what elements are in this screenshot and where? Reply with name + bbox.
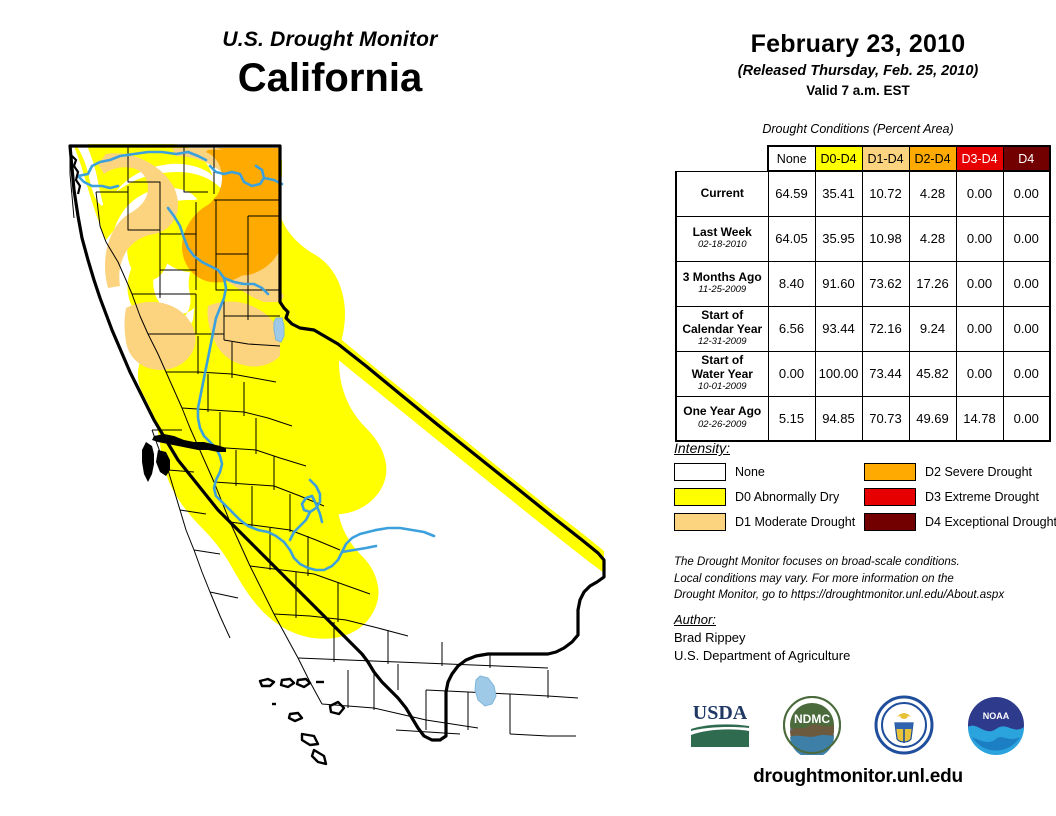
table-cell-value: 72.16 xyxy=(862,306,909,351)
note-line-3[interactable]: Drought Monitor, go to https://droughtmo… xyxy=(674,587,1054,604)
agency-logos: USDA NDMC xyxy=(660,692,1056,758)
table-caption: Drought Conditions (Percent Area) xyxy=(660,122,1056,136)
report-date: February 23, 2010 xyxy=(660,30,1056,59)
table-header-row: NoneD0-D4D1-D4D2-D4D3-D4D4 xyxy=(676,146,1050,171)
legend-item: D0 Abnormally Dry xyxy=(674,488,864,506)
map-panel: U.S. Drought Monitor California xyxy=(0,0,660,816)
drought-conditions-table: NoneD0-D4D1-D4D2-D4D3-D4D4 Current64.593… xyxy=(675,145,1051,442)
table-row-label: 3 Months Ago11-25-2009 xyxy=(676,261,768,306)
author-org: U.S. Department of Agriculture xyxy=(674,648,1054,663)
table-cell-value: 9.24 xyxy=(909,306,956,351)
table-row-date: 11-25-2009 xyxy=(677,285,768,296)
table-cell-value: 45.82 xyxy=(909,351,956,396)
legend-label: D2 Severe Drought xyxy=(925,465,1032,479)
valid-time: Valid 7 a.m. EST xyxy=(660,83,1056,98)
legend-grid: NoneD2 Severe DroughtD0 Abnormally DryD3… xyxy=(674,463,1054,531)
state-title: California xyxy=(0,55,660,101)
table-cell-value: 5.15 xyxy=(768,396,815,441)
release-date: (Released Thursday, Feb. 25, 2010) xyxy=(660,63,1056,79)
author-name: Brad Rippey xyxy=(674,630,1054,645)
table-cell-value: 100.00 xyxy=(815,351,862,396)
table-cell-value: 70.73 xyxy=(862,396,909,441)
notes-block: The Drought Monitor focuses on broad-sca… xyxy=(674,554,1054,604)
legend-item: None xyxy=(674,463,864,481)
table-cell-value: 0.00 xyxy=(1003,261,1050,306)
table-row-label: Last Week02-18-2010 xyxy=(676,216,768,261)
note-line-1: The Drought Monitor focuses on broad-sca… xyxy=(674,554,1054,571)
site-url[interactable]: droughtmonitor.unl.edu xyxy=(660,766,1056,788)
table-cell-value: 0.00 xyxy=(956,216,1003,261)
table-cell-value: 0.00 xyxy=(1003,396,1050,441)
table-cell-value: 0.00 xyxy=(1003,216,1050,261)
table-row-label: Current xyxy=(676,171,768,216)
legend-label: D1 Moderate Drought xyxy=(735,515,855,529)
table-row: One Year Ago02-26-20095.1594.8570.7349.6… xyxy=(676,396,1050,441)
legend-swatch xyxy=(864,463,916,481)
page-title: U.S. Drought Monitor xyxy=(0,28,660,51)
legend-swatch xyxy=(864,488,916,506)
table-col-header-d2-d4: D2-D4 xyxy=(909,146,956,171)
table-cell-value: 73.44 xyxy=(862,351,909,396)
info-panel: February 23, 2010 (Released Thursday, Fe… xyxy=(660,0,1056,816)
legend-swatch xyxy=(674,463,726,481)
table-cell-value: 0.00 xyxy=(1003,351,1050,396)
author-block: Author: Brad Rippey U.S. Department of A… xyxy=(674,612,1054,663)
table-cell-value: 17.26 xyxy=(909,261,956,306)
map-svg[interactable] xyxy=(48,130,638,805)
table-col-header-none: None xyxy=(768,146,815,171)
table-col-header-d0-d4: D0-D4 xyxy=(815,146,862,171)
table-cell-value: 0.00 xyxy=(1003,171,1050,216)
table-row: Current64.5935.4110.724.280.000.00 xyxy=(676,171,1050,216)
svg-text:NDMC: NDMC xyxy=(794,712,830,726)
table-row: Last Week02-18-201064.0535.9510.984.280.… xyxy=(676,216,1050,261)
table-cell-value: 49.69 xyxy=(909,396,956,441)
table-cell-value: 73.62 xyxy=(862,261,909,306)
table-row: 3 Months Ago11-25-20098.4091.6073.6217.2… xyxy=(676,261,1050,306)
table-cell-value: 6.56 xyxy=(768,306,815,351)
table-row-label: Start ofWater Year10-01-2009 xyxy=(676,351,768,396)
legend-item: D4 Exceptional Drought xyxy=(864,513,1054,531)
table-row-label: One Year Ago02-26-2009 xyxy=(676,396,768,441)
table-col-header-d3-d4: D3-D4 xyxy=(956,146,1003,171)
table-cell-value: 4.28 xyxy=(909,216,956,261)
legend-label: None xyxy=(735,465,765,479)
table-cell-value: 35.41 xyxy=(815,171,862,216)
table-cell-value: 64.59 xyxy=(768,171,815,216)
legend-label: D0 Abnormally Dry xyxy=(735,490,839,504)
drought-monitor-page: U.S. Drought Monitor California xyxy=(0,0,1056,816)
noaa-logo[interactable]: NOAA xyxy=(963,695,1029,755)
legend-item: D1 Moderate Drought xyxy=(674,513,864,531)
svg-text:NOAA: NOAA xyxy=(983,711,1010,721)
table-cell-value: 64.05 xyxy=(768,216,815,261)
intensity-title: Intensity: xyxy=(674,440,1054,456)
ndmc-logo[interactable]: NDMC xyxy=(779,695,845,755)
svg-text:USDA: USDA xyxy=(693,702,748,724)
table-cell-value: 0.00 xyxy=(956,351,1003,396)
usdc-logo[interactable] xyxy=(871,695,937,755)
table-row-label: Start ofCalendar Year12-31-2009 xyxy=(676,306,768,351)
date-block: February 23, 2010 (Released Thursday, Fe… xyxy=(660,30,1056,98)
table-cell-value: 4.28 xyxy=(909,171,956,216)
table-row-date: 12-31-2009 xyxy=(677,337,768,348)
table-cell-value: 0.00 xyxy=(768,351,815,396)
table-cell-value: 91.60 xyxy=(815,261,862,306)
legend-label: D4 Exceptional Drought xyxy=(925,515,1056,529)
table-row: Start ofCalendar Year12-31-20096.5693.44… xyxy=(676,306,1050,351)
table-col-header-d1-d4: D1-D4 xyxy=(862,146,909,171)
legend-swatch xyxy=(864,513,916,531)
author-title: Author: xyxy=(674,612,1054,627)
legend-item: D2 Severe Drought xyxy=(864,463,1054,481)
table-cell-value: 0.00 xyxy=(956,261,1003,306)
table-row-date: 10-01-2009 xyxy=(677,382,768,393)
california-drought-map[interactable] xyxy=(48,130,638,805)
table-row: Start ofWater Year10-01-20090.00100.0073… xyxy=(676,351,1050,396)
legend-swatch xyxy=(674,488,726,506)
table-cell-value: 0.00 xyxy=(956,171,1003,216)
table-cell-value: 93.44 xyxy=(815,306,862,351)
table-cell-value: 0.00 xyxy=(956,306,1003,351)
usda-logo[interactable]: USDA xyxy=(687,695,753,755)
note-line-2: Local conditions may vary. For more info… xyxy=(674,571,1054,588)
table-cell-value: 10.98 xyxy=(862,216,909,261)
table-row-date: 02-26-2009 xyxy=(677,420,768,431)
legend-swatch xyxy=(674,513,726,531)
table-header: NoneD0-D4D1-D4D2-D4D3-D4D4 xyxy=(676,146,1050,171)
table-cell-value: 10.72 xyxy=(862,171,909,216)
table-body: Current64.5935.4110.724.280.000.00Last W… xyxy=(676,171,1050,441)
intensity-legend: Intensity: NoneD2 Severe DroughtD0 Abnor… xyxy=(674,440,1054,531)
title-block: U.S. Drought Monitor California xyxy=(0,28,660,101)
table-col-header-d4: D4 xyxy=(1003,146,1050,171)
lake-tahoe xyxy=(274,318,284,342)
legend-label: D3 Extreme Drought xyxy=(925,490,1039,504)
table-row-date: 02-18-2010 xyxy=(677,240,768,251)
table-cell-value: 35.95 xyxy=(815,216,862,261)
table-cell-value: 14.78 xyxy=(956,396,1003,441)
table-cell-value: 94.85 xyxy=(815,396,862,441)
legend-item: D3 Extreme Drought xyxy=(864,488,1054,506)
table-corner-cell xyxy=(676,146,768,171)
table-cell-value: 8.40 xyxy=(768,261,815,306)
table-cell-value: 0.00 xyxy=(1003,306,1050,351)
